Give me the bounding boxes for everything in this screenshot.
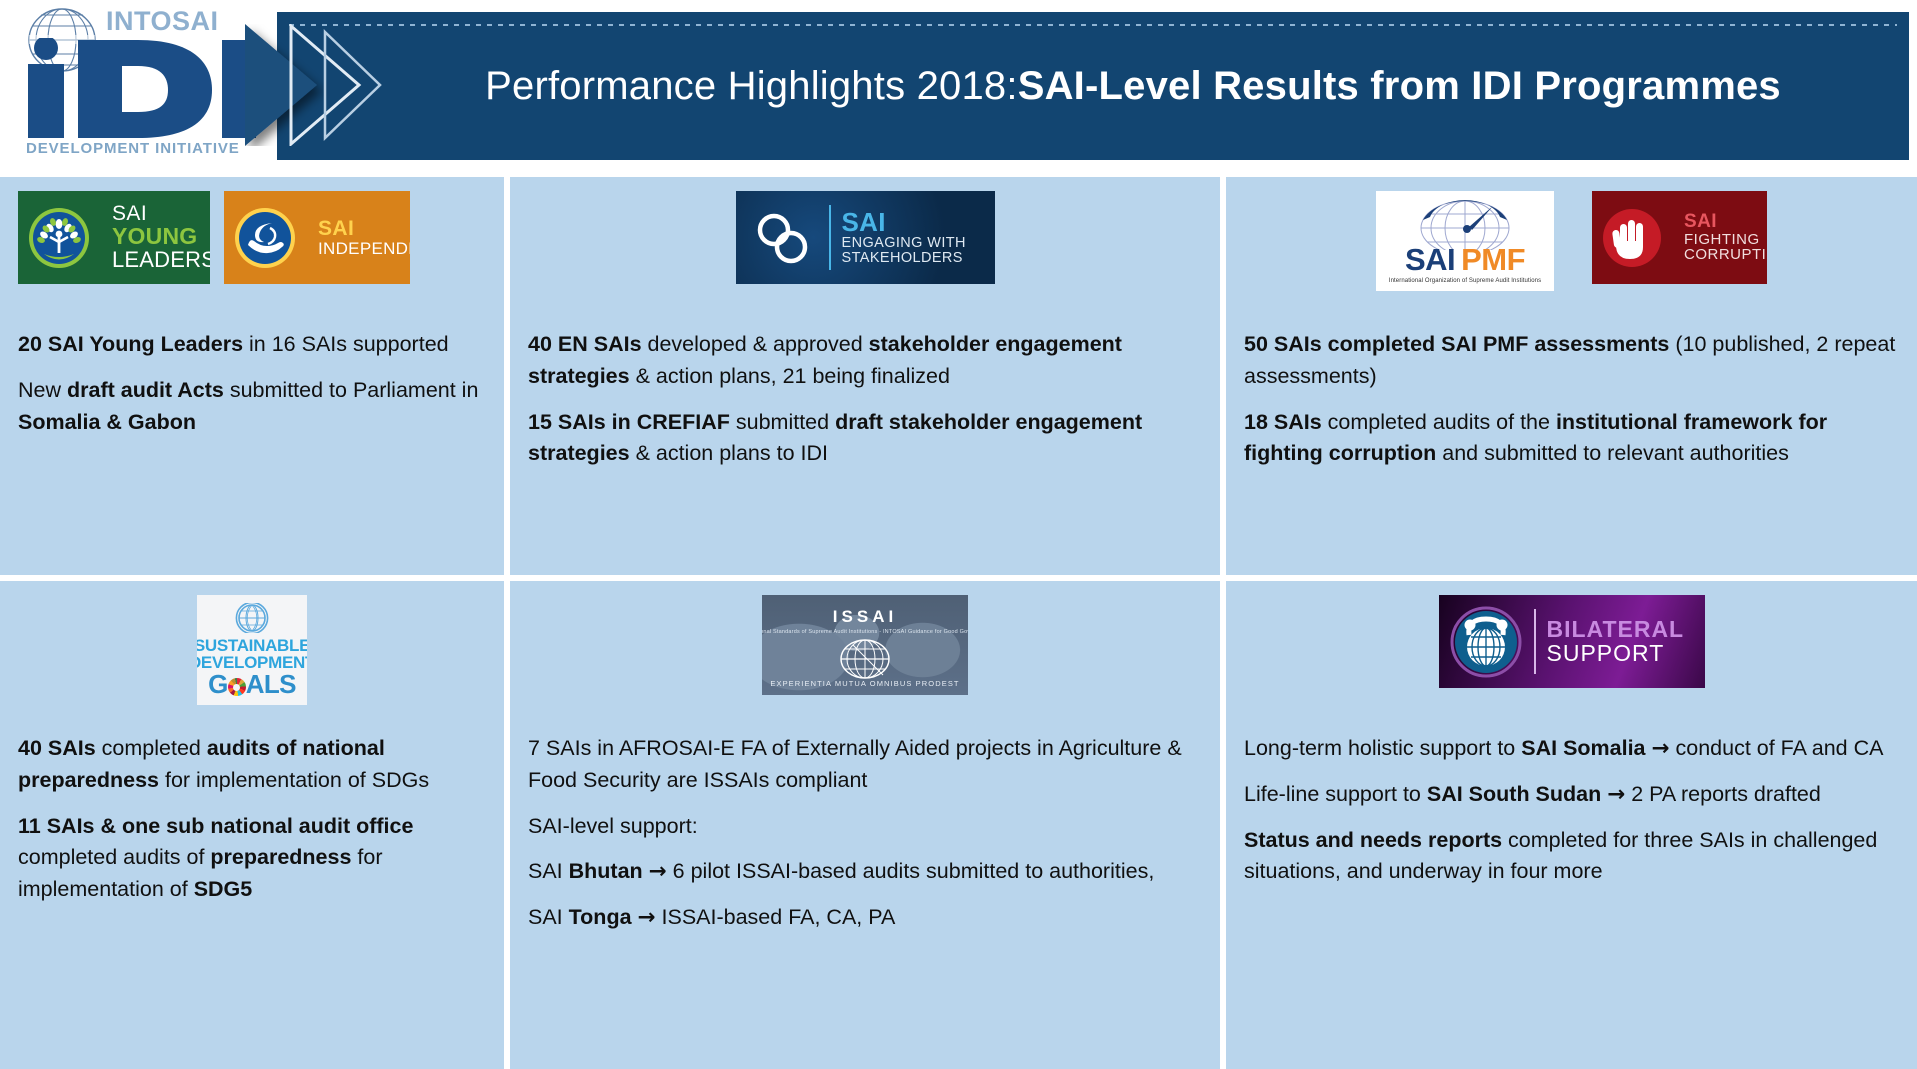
logo-line-1: ISSAI (833, 607, 897, 627)
cell-bilateral-support: BILATERAL SUPPORT Long-term holistic sup… (1220, 575, 1917, 1069)
logo-line-3: LEADERS (112, 249, 210, 272)
cell-sustainable-development-goals: SUSTAINABLE DEVELOPMENT GALS 40 SAIs com… (0, 575, 504, 1069)
cell-body-text: 40 EN SAIs developed & approved stakehol… (528, 329, 1202, 470)
page-title-bold: SAI-Level Results from IDI Programmes (1018, 64, 1781, 109)
slide-header: INTOSAI DEVELOPMENT INITIATIVE Performan… (0, 0, 1917, 172)
paragraph: 7 SAIs in AFROSAI-E FA of Externally Aid… (528, 733, 1202, 797)
cell-issai-implementation: ISSAI International Standards of Supreme… (504, 575, 1220, 1069)
stop-hand-icon (1602, 208, 1662, 268)
divider (829, 205, 831, 270)
logo-line-1: SUSTAINABLE (197, 637, 307, 654)
logo-line-1: SAI (112, 203, 210, 225)
arrow-right-icon: → (1607, 782, 1625, 807)
logo-words: BILATERAL SUPPORT (1547, 618, 1685, 666)
tree-in-hands-icon (28, 207, 90, 269)
paragraph: 40 EN SAIs developed & approved stakehol… (528, 329, 1202, 393)
logo-line-3: CORRUPTION (1684, 247, 1767, 263)
paragraph: Status and needs reports completed for t… (1244, 825, 1899, 889)
paragraph: 18 SAIs completed audits of the institut… (1244, 407, 1899, 471)
slide-root: INTOSAI DEVELOPMENT INITIATIVE Performan… (0, 0, 1917, 1069)
logo-line-2: FIGHTING (1684, 232, 1767, 248)
paragraph: Long-term holistic support to SAI Somali… (1244, 733, 1899, 765)
logo-line-3: GALS (208, 671, 296, 697)
paragraph: 11 SAIs & one sub national audit office … (18, 811, 486, 906)
paragraph: 50 SAIs completed SAI PMF assessments (1… (1244, 329, 1899, 393)
sai-fighting-corruption-logo[interactable]: SAI FIGHTING CORRUPTION (1592, 191, 1767, 284)
un-emblem-icon (235, 603, 269, 633)
logo-row: ISSAI International Standards of Supreme… (528, 595, 1202, 715)
header-bar: Performance Highlights 2018: SAI-Level R… (277, 12, 1909, 160)
logo-line-1: SAI (318, 218, 410, 240)
sustainable-development-goals-logo[interactable]: SUSTAINABLE DEVELOPMENT GALS (197, 595, 307, 705)
paragraph: 15 SAIs in CREFIAF submitted draft stake… (528, 407, 1202, 471)
cell-body-text: 20 SAI Young Leaders in 16 SAIs supporte… (18, 329, 486, 438)
cell-body-text: Long-term holistic support to SAI Somali… (1244, 733, 1899, 888)
page-title-plain: Performance Highlights 2018: (485, 64, 1018, 109)
logo-line-2: ENGAGING WITH (842, 236, 966, 251)
logo-line-1: SAI (1405, 244, 1455, 275)
arrow-right-icon: → (1652, 736, 1670, 761)
sai-pmf-logo[interactable]: SAI PMF International Organization of Su… (1376, 191, 1554, 291)
idi-logo: INTOSAI DEVELOPMENT INITIATIVE (14, 2, 264, 162)
logo-line-2: SUPPORT (1547, 642, 1685, 666)
logo-line-2: INDEPENDENCE (318, 240, 410, 258)
cell-sai-young-leaders-independence: SAI YOUNG LEADERS (0, 177, 504, 575)
globe-two-people-icon (1449, 605, 1523, 679)
cell-body-text: 50 SAIs completed SAI PMF assessments (1… (1244, 329, 1899, 470)
logo-tagline: International Organization of Supreme Au… (1389, 278, 1541, 284)
logo-line-3: STAKEHOLDERS (842, 251, 966, 266)
issai-logo[interactable]: ISSAI International Standards of Supreme… (762, 595, 968, 695)
logo-row: BILATERAL SUPPORT (1244, 595, 1899, 715)
logo-row: SAI PMF International Organization of Su… (1244, 191, 1899, 311)
logo-line-2: YOUNG (112, 225, 210, 249)
cell-sai-engaging-with-stakeholders: SAI ENGAGING WITH STAKEHOLDERS 40 EN SAI… (504, 177, 1220, 575)
logo-words: SAI YOUNG LEADERS (112, 203, 210, 272)
logo-line-1: BILATERAL (1547, 618, 1685, 642)
arrow-right-icon: → (649, 859, 667, 884)
paragraph: SAI Bhutan → 6 pilot ISSAI-based audits … (528, 856, 1202, 888)
two-interlocking-rings-icon (746, 205, 818, 271)
paragraph: New draft audit Acts submitted to Parlia… (18, 375, 486, 439)
double-chevron-right-icon (245, 24, 385, 146)
idi-tagline: DEVELOPMENT INITIATIVE (26, 140, 240, 157)
logo-line-1: SAI (842, 209, 966, 236)
page-title: Performance Highlights 2018: SAI-Level R… (397, 12, 1869, 160)
paragraph: SAI Tonga → ISSAI-based FA, CA, PA (528, 902, 1202, 934)
logo-row: SAI ENGAGING WITH STAKEHOLDERS (528, 191, 1202, 311)
paragraph: 40 SAIs completed audits of national pre… (18, 733, 486, 797)
sai-engaging-with-stakeholders-logo[interactable]: SAI ENGAGING WITH STAKEHOLDERS (736, 191, 995, 284)
arrow-right-icon: → (638, 905, 656, 930)
dove-in-hand-icon (234, 207, 296, 269)
wire-globe-icon (833, 635, 897, 683)
paragraph: SAI-level support: (528, 811, 1202, 843)
cell-body-text: 7 SAIs in AFROSAI-E FA of Externally Aid… (528, 733, 1202, 934)
paragraph: 20 SAI Young Leaders in 16 SAIs supporte… (18, 329, 486, 361)
logo-line-3: EXPERIENTIA MUTUA OMNIBUS PRODEST (762, 679, 968, 688)
cell-body-text: 40 SAIs completed audits of national pre… (18, 733, 486, 906)
bilateral-support-logo[interactable]: BILATERAL SUPPORT (1439, 595, 1705, 688)
logo-row: SAI YOUNG LEADERS (18, 191, 486, 311)
logo-line-1: SAI (1684, 212, 1767, 232)
divider (1534, 609, 1536, 674)
logo-words: SAI PMF (1405, 244, 1525, 275)
logo-words: SAI FIGHTING CORRUPTION (1684, 212, 1767, 263)
paragraph: Life-line support to SAI South Sudan → 2… (1244, 779, 1899, 811)
logo-row: SUSTAINABLE DEVELOPMENT GALS (18, 595, 486, 715)
idi-wordmark (26, 38, 258, 142)
cell-sai-pmf-fighting-corruption: SAI PMF International Organization of Su… (1220, 177, 1917, 575)
highlights-grid: SAI YOUNG LEADERS (0, 177, 1917, 1069)
logo-words: SAI ENGAGING WITH STAKEHOLDERS (842, 209, 966, 266)
sdg-colour-wheel-icon (228, 678, 246, 696)
sai-independence-logo[interactable]: SAI INDEPENDENCE (224, 191, 410, 284)
logo-line-2: PMF (1461, 244, 1525, 275)
logo-words: SAI INDEPENDENCE (318, 218, 410, 258)
intosai-wordmark: INTOSAI (106, 6, 219, 37)
sai-young-leaders-logo[interactable]: SAI YOUNG LEADERS (18, 191, 210, 284)
